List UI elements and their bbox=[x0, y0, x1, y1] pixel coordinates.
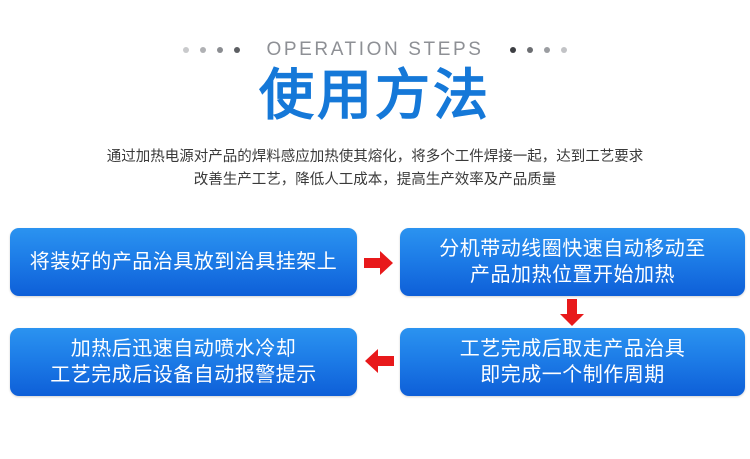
flow-diagram: 将装好的产品治具放到治具挂架上 分机带动线圈快速自动移动至 产品加热位置开始加热… bbox=[0, 0, 750, 459]
arrow-left-icon bbox=[364, 348, 394, 374]
flow-step-1-text: 将装好的产品治具放到治具挂架上 bbox=[30, 249, 338, 275]
flow-step-2-text: 分机带动线圈快速自动移动至 产品加热位置开始加热 bbox=[439, 236, 706, 288]
flow-step-4: 加热后迅速自动喷水冷却 工艺完成后设备自动报警提示 bbox=[10, 328, 357, 396]
flow-step-3: 工艺完成后取走产品治具 即完成一个制作周期 bbox=[400, 328, 745, 396]
arrow-right-icon bbox=[364, 250, 394, 276]
flow-step-2: 分机带动线圈快速自动移动至 产品加热位置开始加热 bbox=[400, 228, 745, 296]
arrow-down-icon bbox=[559, 299, 585, 327]
flow-step-4-line-1: 加热后迅速自动喷水冷却 bbox=[50, 336, 317, 362]
flow-step-1-line-1: 将装好的产品治具放到治具挂架上 bbox=[30, 249, 338, 275]
flow-step-4-text: 加热后迅速自动喷水冷却 工艺完成后设备自动报警提示 bbox=[50, 336, 317, 388]
flow-step-4-line-2: 工艺完成后设备自动报警提示 bbox=[50, 362, 317, 388]
flow-step-3-text: 工艺完成后取走产品治具 即完成一个制作周期 bbox=[460, 336, 686, 388]
flow-step-2-line-1: 分机带动线圈快速自动移动至 bbox=[439, 236, 706, 262]
flow-step-3-line-2: 即完成一个制作周期 bbox=[460, 362, 686, 388]
flow-step-3-line-1: 工艺完成后取走产品治具 bbox=[460, 336, 686, 362]
flow-step-1: 将装好的产品治具放到治具挂架上 bbox=[10, 228, 357, 296]
flow-step-2-line-2: 产品加热位置开始加热 bbox=[439, 262, 706, 288]
operation-steps-infographic: OPERATION STEPS 使用方法 通过加热电源对产品的焊料感应加热使其熔… bbox=[0, 0, 750, 459]
